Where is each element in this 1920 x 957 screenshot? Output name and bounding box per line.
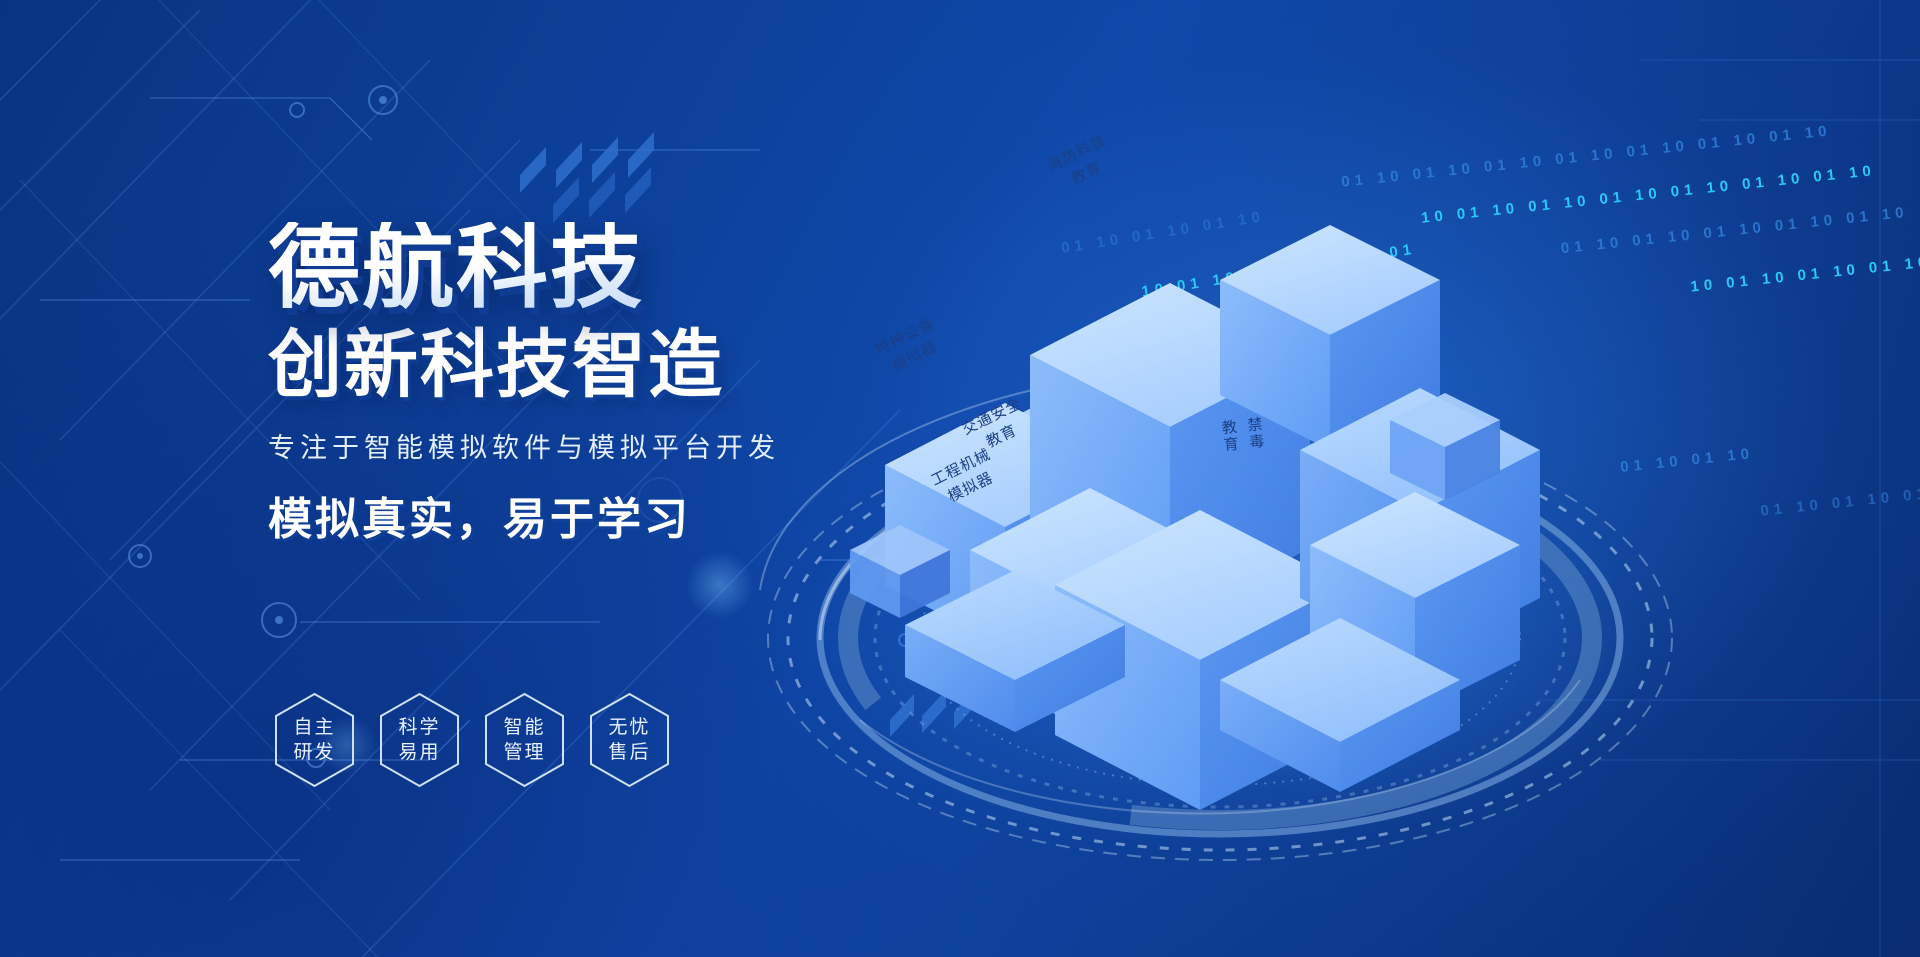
- badge-scientific-easy[interactable]: 科学 易用: [377, 692, 462, 788]
- badge-line1: 科学: [398, 716, 440, 740]
- cube-label-col2: 教育: [1216, 418, 1241, 454]
- badge-worryfree-service[interactable]: 无忧 售后: [587, 692, 672, 788]
- cube-label-col1: 禁毒: [1242, 416, 1267, 452]
- badge-line1: 智能: [503, 716, 545, 740]
- slogan: 模拟真实，易于学习: [268, 483, 908, 547]
- feature-badge-group: 自主 研发 科学 易用 智能 管理: [272, 692, 672, 788]
- hero-banner: 01 10 01 10 01 10 01 10 01 10 01 10 01 1…: [0, 0, 1920, 957]
- badge-line2: 管理: [503, 741, 545, 765]
- headline: 创新科技智造: [268, 326, 908, 404]
- badge-line1: 自主: [293, 716, 335, 740]
- badge-smart-management[interactable]: 智能 管理: [482, 692, 567, 788]
- badge-line1: 无忧: [608, 716, 650, 740]
- cube-label-anti-drug: 教育 禁毒: [1216, 416, 1267, 455]
- badge-line2: 售后: [608, 741, 650, 765]
- badge-line2: 易用: [398, 741, 440, 765]
- badge-independent-rd[interactable]: 自主 研发: [272, 692, 357, 788]
- brand-title: 德航科技: [268, 222, 908, 314]
- tagline: 专注于智能模拟软件与模拟平台开发: [268, 426, 908, 465]
- badge-line2: 研发: [293, 741, 335, 765]
- hero-copy: 德航科技 创新科技智造 专注于智能模拟软件与模拟平台开发 模拟真实，易于学习: [268, 222, 908, 547]
